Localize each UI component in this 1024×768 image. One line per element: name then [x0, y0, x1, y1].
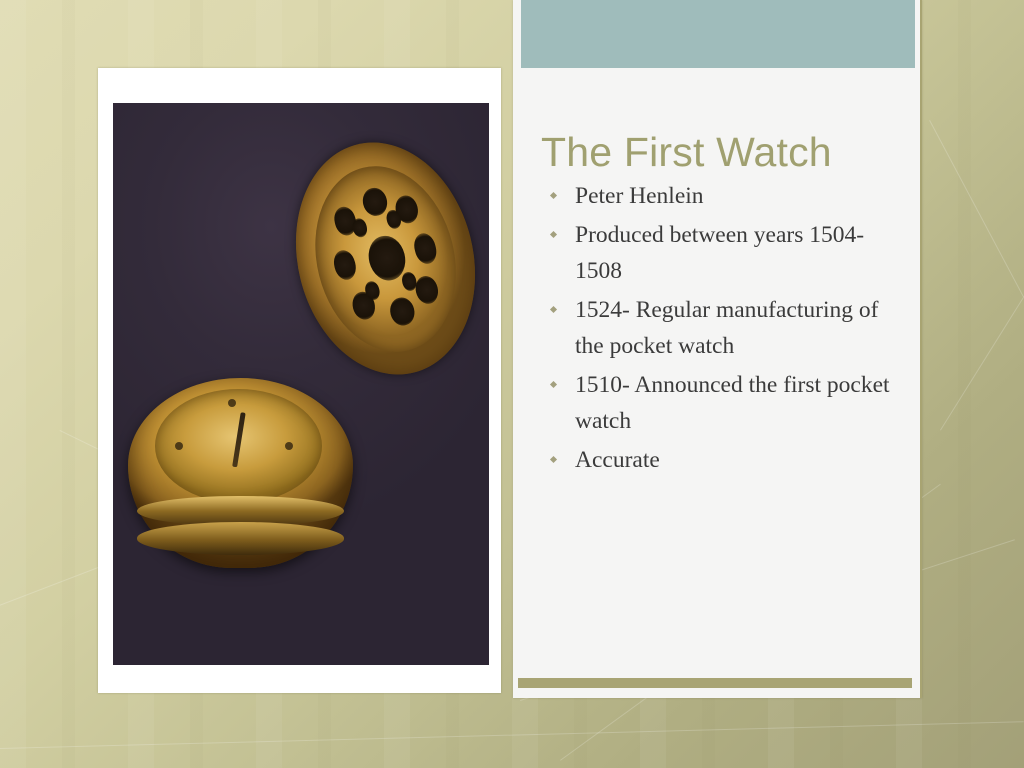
bullet-marker-icon — [550, 192, 557, 199]
content-panel: The First Watch Peter Henlein Produced b… — [513, 0, 922, 698]
pocket-watch-photo — [113, 103, 489, 665]
bullet-marker-icon — [550, 456, 557, 463]
watch-dial — [155, 389, 322, 503]
list-item: Produced between years 1504-1508 — [535, 217, 907, 289]
presentation-slide: The First Watch Peter Henlein Produced b… — [0, 0, 1024, 768]
watch-body — [128, 378, 353, 568]
bullet-list: Peter Henlein Produced between years 150… — [535, 178, 907, 481]
list-item-label: Accurate — [575, 447, 660, 473]
background-hex-line — [940, 269, 1024, 431]
list-item-label: 1510- Announced the first pocket watch — [575, 372, 890, 434]
list-item: Peter Henlein — [535, 178, 907, 214]
bottom-accent-bar — [518, 678, 912, 688]
list-item: Accurate — [535, 442, 907, 478]
bullet-marker-icon — [550, 381, 557, 388]
background-hex-line — [0, 721, 1024, 749]
list-item-label: Peter Henlein — [575, 183, 704, 209]
bullet-marker-icon — [550, 231, 557, 238]
header-color-band — [521, 0, 915, 68]
watch-case-rim — [137, 522, 344, 554]
photo-frame — [98, 68, 501, 693]
page-title: The First Watch — [541, 131, 901, 174]
list-item: 1510- Announced the first pocket watch — [535, 367, 907, 439]
background-hex-line — [929, 120, 1024, 297]
list-item-label: 1524- Regular manufacturing of the pocke… — [575, 297, 878, 359]
list-item: 1524- Regular manufacturing of the pocke… — [535, 292, 907, 364]
watch-lid — [272, 123, 489, 393]
bullet-marker-icon — [550, 306, 557, 313]
watch-hand — [232, 412, 245, 467]
watch-lid-inner — [297, 151, 475, 366]
list-item-label: Produced between years 1504-1508 — [575, 222, 864, 284]
